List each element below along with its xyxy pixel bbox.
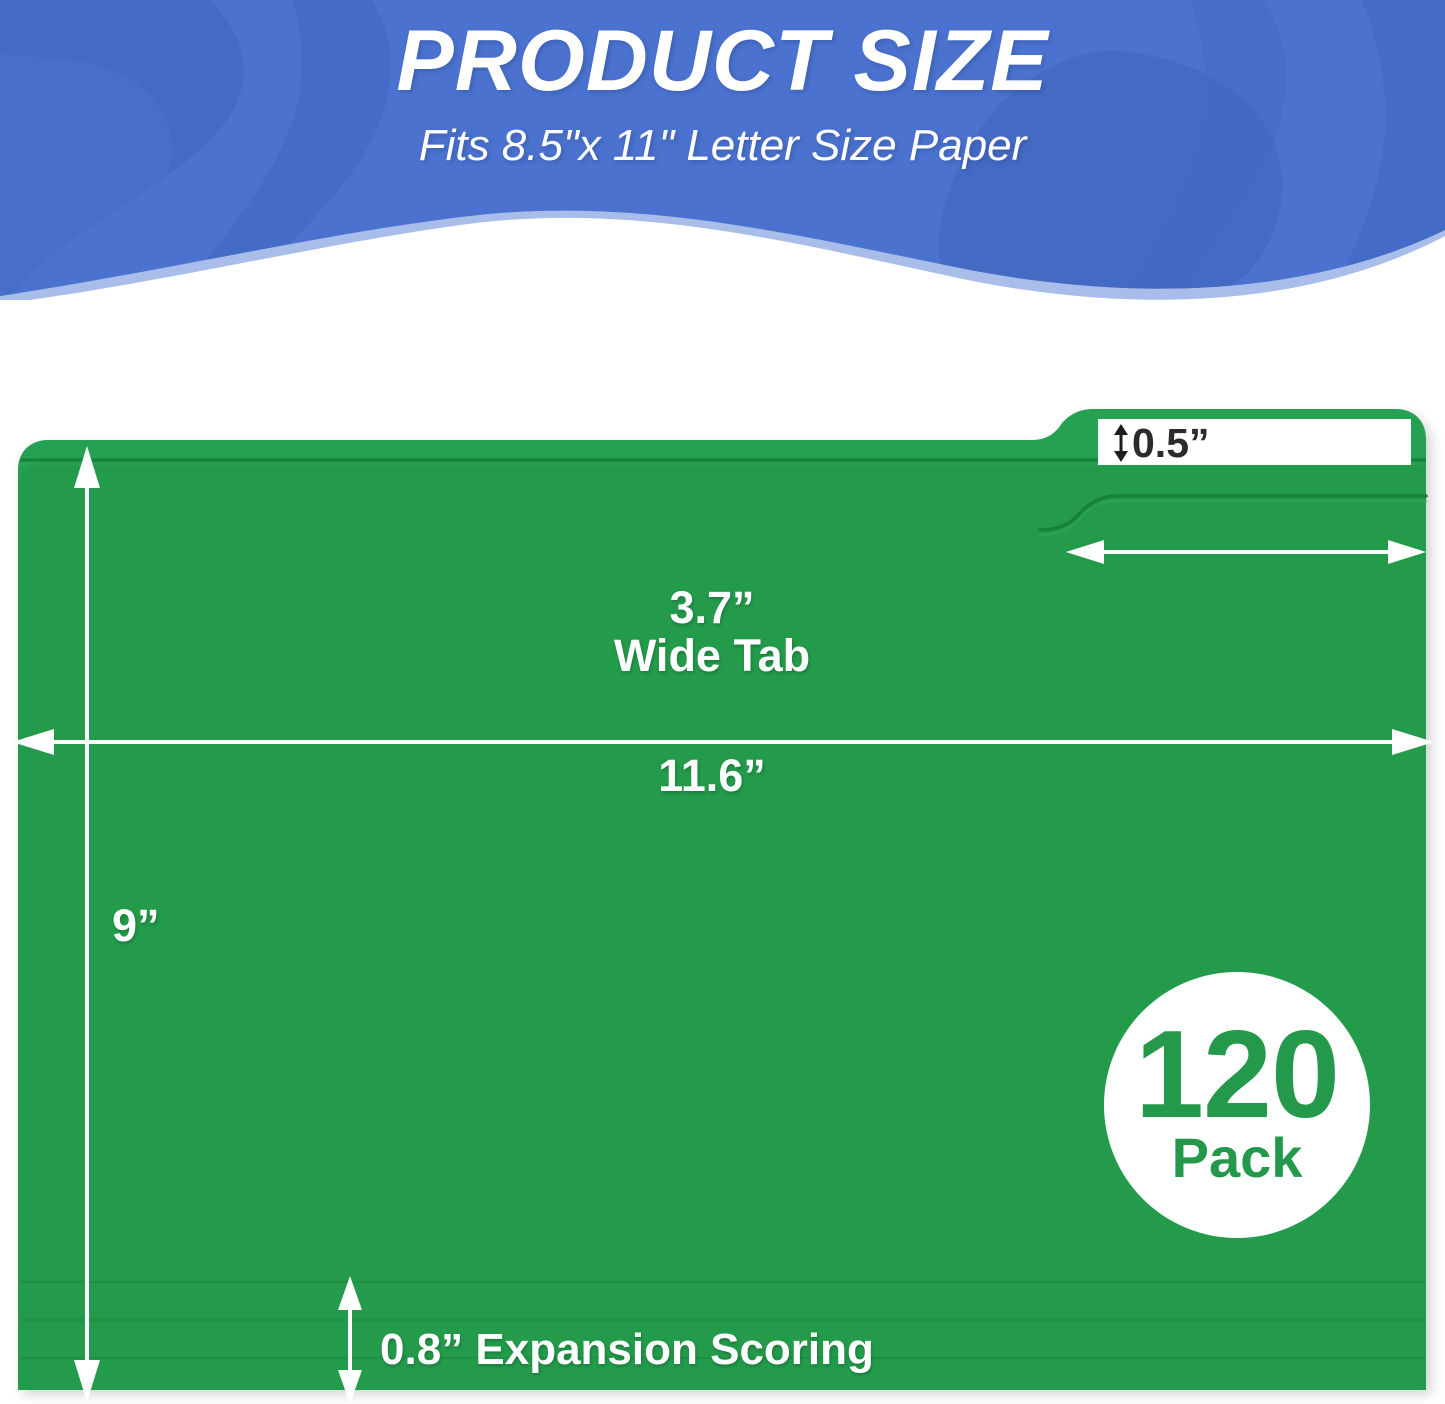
header-banner: PRODUCT SIZE Fits 8.5"x 11" Letter Size … <box>0 0 1445 300</box>
overall-height-value: 9” <box>112 900 160 952</box>
folder-svg <box>0 330 1445 1404</box>
pack-count-unit: Pack <box>1172 1130 1303 1186</box>
expansion-scoring-label: 0.8” Expansion Scoring <box>380 1325 874 1375</box>
pack-count-number: 120 <box>1135 1018 1339 1132</box>
tab-height-value: 0.5” <box>1132 420 1210 466</box>
header-background-svg <box>0 0 1445 300</box>
infographic-canvas: PRODUCT SIZE Fits 8.5"x 11" Letter Size … <box>0 0 1445 1404</box>
tab-width-caption: Wide Tab <box>0 632 1424 680</box>
tab-width-value: 3.7” <box>669 582 754 633</box>
product-illustration <box>0 330 1445 1404</box>
tab-width-label: 3.7” Wide Tab <box>0 584 1424 679</box>
pack-count-badge: 120 Pack <box>1104 972 1370 1238</box>
overall-width-value: 11.6” <box>0 750 1424 802</box>
